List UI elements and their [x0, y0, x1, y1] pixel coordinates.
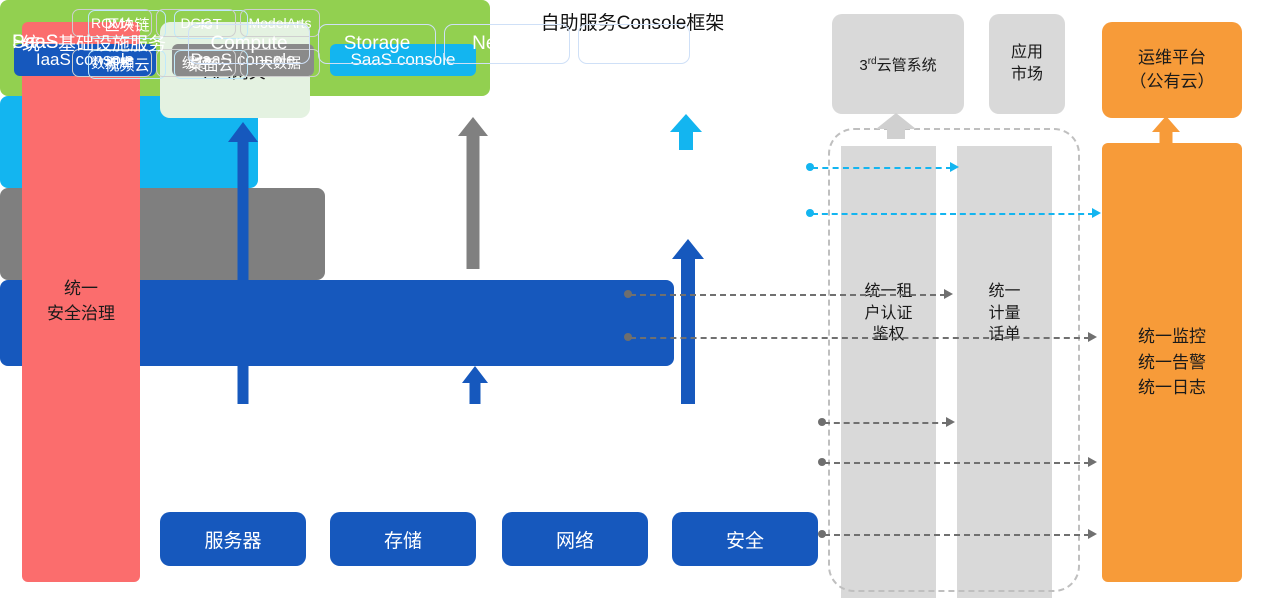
ops-panel-line-1: 统一监控 — [1138, 324, 1206, 350]
connector-infra-to-ops — [824, 462, 1090, 464]
connector-resources-to-ops — [824, 534, 1090, 536]
infrastructure-label: 统一基础设施服务 — [22, 30, 166, 56]
third-party-superscript: rd — [868, 56, 877, 67]
connector-paas-to-ops — [630, 337, 1090, 339]
billing-line-3: 话单 — [957, 324, 1052, 346]
ops-top-line-2: （公有云） — [1130, 70, 1215, 94]
third-party-label: 3rd云管系统 — [859, 54, 936, 75]
security-governance-panel: 统一 安全治理 — [22, 22, 140, 582]
arrowhead-infra-to-ops — [1088, 457, 1097, 467]
arrow-ops-panel-to-ops-top — [1152, 116, 1180, 146]
ops-monitoring-panel: 统一监控 统一告警 统一日志 — [1102, 143, 1242, 582]
auth-line-3: 鉴权 — [841, 324, 936, 346]
infra-chip-storage[interactable]: Storage — [318, 24, 436, 64]
security-line-1: 统一 — [47, 277, 115, 302]
connector-infra-to-billing — [824, 422, 948, 424]
resource-box-security[interactable]: 安全 — [672, 512, 818, 566]
infra-chip-compute[interactable]: Compute — [188, 24, 310, 64]
billing-line-1: 统一 — [957, 281, 1052, 303]
app-market-box[interactable]: 应用 市场 — [989, 14, 1065, 114]
architecture-diagram: 统一 安全治理 API网关 自助服务Console框架 IaaS console… — [0, 0, 1265, 605]
connector-saas-to-ops — [812, 213, 1094, 215]
infra-chip-cce[interactable]: CCE — [578, 24, 690, 64]
security-line-2: 安全治理 — [47, 302, 115, 327]
ops-panel-line-2: 统一告警 — [1138, 350, 1206, 376]
arrow-infra-to-paas — [462, 366, 488, 404]
app-market-line-2: 市场 — [1011, 64, 1043, 86]
ops-top-line-1: 运维平台 — [1130, 46, 1215, 70]
arrowhead-infra-to-billing — [946, 417, 955, 427]
arrowhead-resources-to-ops — [1088, 529, 1097, 539]
arrow-shared-to-third-party — [876, 113, 916, 139]
resource-box-storage[interactable]: 存储 — [330, 512, 476, 566]
third-party-cloud-mgmt-box[interactable]: 3rd云管系统 — [832, 14, 964, 114]
arrowhead-saas-to-ops — [1092, 208, 1101, 218]
arrow-paas-to-console — [458, 117, 488, 269]
auth-line-1: 统一租 — [841, 281, 936, 303]
resource-box-network[interactable]: 网络 — [502, 512, 648, 566]
arrowhead-paas-to-ops — [1088, 332, 1097, 342]
ops-panel-line-3: 统一日志 — [1138, 375, 1206, 401]
auth-line-2: 户认证 — [841, 303, 936, 325]
arrow-infra-to-api-gateway — [228, 122, 258, 404]
arrowhead-saas-to-billing — [950, 162, 959, 172]
infra-chip-network[interactable]: Network — [444, 24, 570, 64]
billing-line-2: 计量 — [957, 303, 1052, 325]
resource-box-server[interactable]: 服务器 — [160, 512, 306, 566]
app-market-line-1: 应用 — [1011, 42, 1043, 64]
arrow-saas-to-console — [670, 114, 702, 150]
connector-paas-to-billing — [630, 294, 946, 296]
ops-platform-public-cloud-box[interactable]: 运维平台 （公有云） — [1102, 22, 1242, 118]
arrow-infra-to-saas — [672, 239, 704, 404]
shared-services-dashed-container — [828, 128, 1080, 592]
connector-saas-to-billing — [812, 167, 952, 169]
arrowhead-paas-to-billing — [944, 289, 953, 299]
